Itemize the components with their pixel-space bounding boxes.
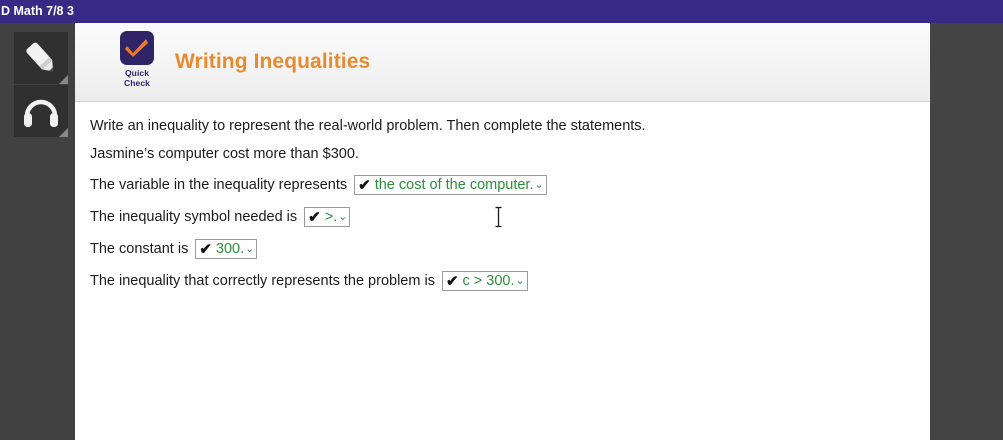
answer-value: c > 300.	[463, 272, 515, 290]
logo-tile	[120, 31, 154, 65]
logo-caption-line-2: Check	[108, 78, 166, 88]
instructions-text: Write an inequality to represent the rea…	[90, 117, 646, 135]
chevron-down-icon: ⌄	[535, 180, 544, 191]
headphones-tool-button[interactable]	[14, 85, 68, 137]
check-icon: ✔	[358, 178, 371, 193]
window-titlebar: D Math 7/8 3	[0, 0, 1003, 23]
pencil-tool-button[interactable]	[14, 32, 68, 84]
statement-constant-label: The constant is	[90, 239, 188, 259]
statement-symbol: The inequality symbol needed is ✔ >. ⌄	[90, 207, 350, 227]
answer-value: >.	[325, 208, 338, 226]
answer-select-variable[interactable]: ✔ the cost of the computer. ⌄	[354, 175, 547, 195]
answer-value: 300.	[216, 240, 244, 258]
quick-check-logo: Quick Check	[108, 31, 166, 88]
chevron-down-icon: ⌄	[338, 212, 347, 223]
logo-caption: Quick Check	[108, 68, 166, 88]
statement-symbol-label: The inequality symbol needed is	[90, 207, 297, 227]
statement-variable: The variable in the inequality represent…	[90, 175, 547, 195]
logo-caption-line-1: Quick	[108, 68, 166, 78]
statement-inequality-label: The inequality that correctly represents…	[90, 271, 435, 291]
page-header: Quick Check Writing Inequalities	[75, 23, 930, 102]
answer-select-inequality[interactable]: ✔ c > 300. ⌄	[442, 271, 528, 291]
answer-select-constant[interactable]: ✔ 300. ⌄	[195, 239, 257, 259]
answer-select-symbol[interactable]: ✔ >. ⌄	[304, 207, 350, 227]
check-icon: ✔	[199, 242, 212, 257]
problem-text: Jasmine’s computer cost more than $300.	[90, 145, 359, 163]
window-title: D Math 7/8 3	[1, 4, 74, 18]
headphones-tool-corner-indicator	[59, 128, 68, 137]
lesson-page: Quick Check Writing Inequalities Write a…	[75, 23, 930, 440]
statement-inequality: The inequality that correctly represents…	[90, 271, 528, 291]
tool-rail	[0, 23, 75, 440]
chevron-down-icon: ⌄	[245, 244, 254, 255]
chevron-down-icon: ⌄	[516, 276, 525, 287]
check-icon: ✔	[308, 210, 321, 225]
statement-constant: The constant is ✔ 300. ⌄	[90, 239, 257, 259]
check-icon: ✔	[446, 274, 459, 289]
pencil-tool-corner-indicator	[59, 75, 68, 84]
statement-variable-label: The variable in the inequality represent…	[90, 175, 347, 195]
page-title: Writing Inequalities	[175, 50, 370, 74]
answer-value: the cost of the computer.	[375, 176, 534, 194]
